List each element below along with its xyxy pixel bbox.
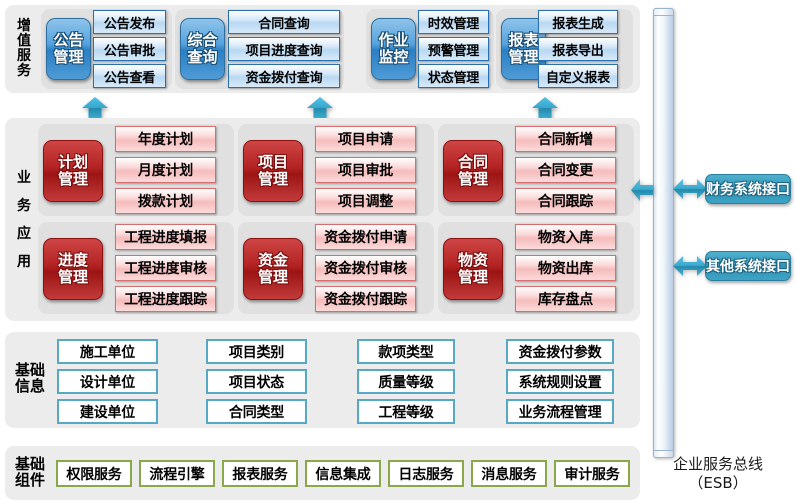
item-progress-track[interactable]: 工程进度跟踪	[115, 286, 216, 312]
esb-caption-line-1: （ESB）	[640, 474, 796, 493]
module-query-line-0: 综合	[187, 32, 217, 49]
item-contract-change[interactable]: 合同变更	[515, 157, 616, 183]
item-contract-track[interactable]: 合同跟踪	[515, 188, 616, 214]
module-fund-mgmt-line-1: 管理	[258, 269, 288, 286]
item-fund-payment-query[interactable]: 资金拨付查询	[228, 64, 340, 88]
item-annual-plan[interactable]: 年度计划	[115, 126, 216, 152]
value-added-label-char-3: 务	[17, 64, 31, 79]
module-progress-mgmt-line-0: 进度	[58, 252, 88, 269]
item-fund-apply[interactable]: 资金拨付申请	[315, 224, 416, 250]
item-timeliness-mgmt[interactable]: 时效管理	[418, 10, 489, 34]
item-contract-query[interactable]: 合同查询	[228, 10, 340, 34]
item-message-service[interactable]: 消息服务	[471, 460, 547, 487]
value-added-label-char-2: 服	[17, 49, 31, 64]
module-plan-mgmt[interactable]: 计划 管理	[43, 140, 103, 202]
item-log-service[interactable]: 日志服务	[388, 460, 464, 487]
ext-interface-other[interactable]: 其他系统接口	[705, 251, 791, 281]
item-announcement-approve[interactable]: 公告审批	[93, 37, 166, 61]
item-report-generate[interactable]: 报表生成	[538, 10, 618, 34]
item-audit-service[interactable]: 审计服务	[554, 460, 630, 487]
item-info-integration[interactable]: 信息集成	[305, 460, 381, 487]
architecture-diagram: 增 值 服 务 公告 管理 公告发布 公告审批 公告查看 综合 查询 合同查询 …	[0, 0, 796, 504]
business-app-label: 业 务 应 用	[8, 124, 40, 316]
item-project-apply[interactable]: 项目申请	[315, 126, 416, 152]
item-alert-mgmt[interactable]: 预警管理	[418, 37, 489, 61]
module-project-mgmt[interactable]: 项目 管理	[243, 140, 303, 202]
module-plan-mgmt-line-0: 计划	[58, 154, 88, 171]
module-contract-mgmt-line-1: 管理	[458, 171, 488, 188]
module-job-monitor[interactable]: 作业 监控	[371, 18, 416, 80]
value-added-label-char-0: 增	[17, 19, 31, 34]
business-app-label-char-0: 业	[17, 164, 31, 192]
flow-arrow-up-1	[82, 97, 108, 119]
value-added-label-char-1: 值	[17, 34, 31, 49]
item-payment-type[interactable]: 款项类型	[357, 339, 455, 364]
module-project-mgmt-line-1: 管理	[258, 171, 288, 188]
item-project-adjust[interactable]: 项目调整	[315, 188, 416, 214]
item-progress-report[interactable]: 工程进度填报	[115, 224, 216, 250]
item-allocation-plan[interactable]: 拨款计划	[115, 188, 216, 214]
module-query[interactable]: 综合 查询	[180, 18, 225, 80]
esb-left-connector-arrow	[631, 177, 653, 203]
module-progress-mgmt[interactable]: 进度 管理	[43, 238, 103, 300]
item-workflow-engine[interactable]: 流程引擎	[139, 460, 215, 487]
item-fund-track[interactable]: 资金拨付跟踪	[315, 286, 416, 312]
value-added-label: 增 值 服 务	[8, 6, 40, 92]
esb-caption-line-0: 企业服务总线	[640, 455, 796, 474]
item-project-status[interactable]: 项目状态	[206, 369, 307, 394]
item-project-progress-query[interactable]: 项目进度查询	[228, 37, 340, 61]
item-report-service[interactable]: 报表服务	[222, 460, 298, 487]
item-construction-unit[interactable]: 施工单位	[57, 339, 158, 364]
item-quality-grade[interactable]: 质量等级	[357, 369, 455, 394]
module-project-mgmt-line-0: 项目	[258, 154, 288, 171]
item-inventory-check[interactable]: 库存盘点	[515, 286, 616, 312]
esb-bus-cap-top	[653, 8, 674, 16]
module-material-mgmt[interactable]: 物资 管理	[443, 238, 503, 300]
item-announcement-view[interactable]: 公告查看	[93, 64, 166, 88]
item-design-unit[interactable]: 设计单位	[57, 369, 158, 394]
basic-components-label-line-1: 组件	[15, 473, 45, 489]
ext-interface-finance[interactable]: 财务系统接口	[705, 174, 791, 204]
business-app-label-char-3: 用	[17, 248, 31, 276]
business-app-label-char-2: 应	[17, 220, 31, 248]
business-app-label-char-1: 务	[17, 192, 31, 220]
item-workflow-mgmt[interactable]: 业务流程管理	[506, 399, 614, 424]
module-report-line-0: 报表	[508, 32, 538, 49]
item-auth-service[interactable]: 权限服务	[56, 460, 132, 487]
item-fund-review[interactable]: 资金拨付审核	[315, 255, 416, 281]
module-contract-mgmt[interactable]: 合同 管理	[443, 140, 503, 202]
flow-arrow-up-3	[532, 97, 558, 119]
basic-components-label: 基础 组件	[8, 450, 52, 496]
item-material-in[interactable]: 物资入库	[515, 224, 616, 250]
module-fund-mgmt[interactable]: 资金 管理	[243, 238, 303, 300]
module-announcement-line-0: 公告	[53, 32, 83, 49]
item-report-export[interactable]: 报表导出	[538, 37, 618, 61]
item-status-mgmt[interactable]: 状态管理	[418, 64, 489, 88]
module-report-line-1: 管理	[508, 49, 538, 66]
item-progress-review[interactable]: 工程进度审核	[115, 255, 216, 281]
module-job-monitor-line-1: 监控	[378, 49, 408, 66]
item-owner-unit[interactable]: 建设单位	[57, 399, 158, 424]
basic-info-label-line-1: 信息	[15, 379, 45, 395]
module-query-line-1: 查询	[187, 49, 217, 66]
esb-bus	[653, 8, 674, 458]
item-report-custom[interactable]: 自定义报表	[538, 64, 618, 88]
module-plan-mgmt-line-1: 管理	[58, 171, 88, 188]
esb-arrow-other	[673, 255, 707, 277]
basic-info-label: 基础 信息	[8, 355, 52, 403]
item-contract-type[interactable]: 合同类型	[206, 399, 307, 424]
module-job-monitor-line-0: 作业	[378, 32, 408, 49]
item-project-grade[interactable]: 工程等级	[357, 399, 455, 424]
module-material-mgmt-line-0: 物资	[458, 252, 488, 269]
module-fund-mgmt-line-0: 资金	[258, 252, 288, 269]
item-material-out[interactable]: 物资出库	[515, 255, 616, 281]
module-progress-mgmt-line-1: 管理	[58, 269, 88, 286]
module-announcement-line-1: 管理	[53, 49, 83, 66]
module-material-mgmt-line-1: 管理	[458, 269, 488, 286]
esb-caption: 企业服务总线 （ESB）	[640, 455, 796, 493]
item-announcement-publish[interactable]: 公告发布	[93, 10, 166, 34]
item-project-category[interactable]: 项目类别	[206, 339, 307, 364]
item-fund-params[interactable]: 资金拨付参数	[506, 339, 614, 364]
flow-arrow-up-2	[307, 97, 333, 119]
module-announcement[interactable]: 公告 管理	[46, 18, 91, 80]
item-system-rules[interactable]: 系统规则设置	[506, 369, 614, 394]
item-project-approve[interactable]: 项目审批	[315, 157, 416, 183]
item-monthly-plan[interactable]: 月度计划	[115, 157, 216, 183]
module-contract-mgmt-line-0: 合同	[458, 154, 488, 171]
esb-arrow-finance	[673, 178, 707, 200]
item-contract-add[interactable]: 合同新增	[515, 126, 616, 152]
